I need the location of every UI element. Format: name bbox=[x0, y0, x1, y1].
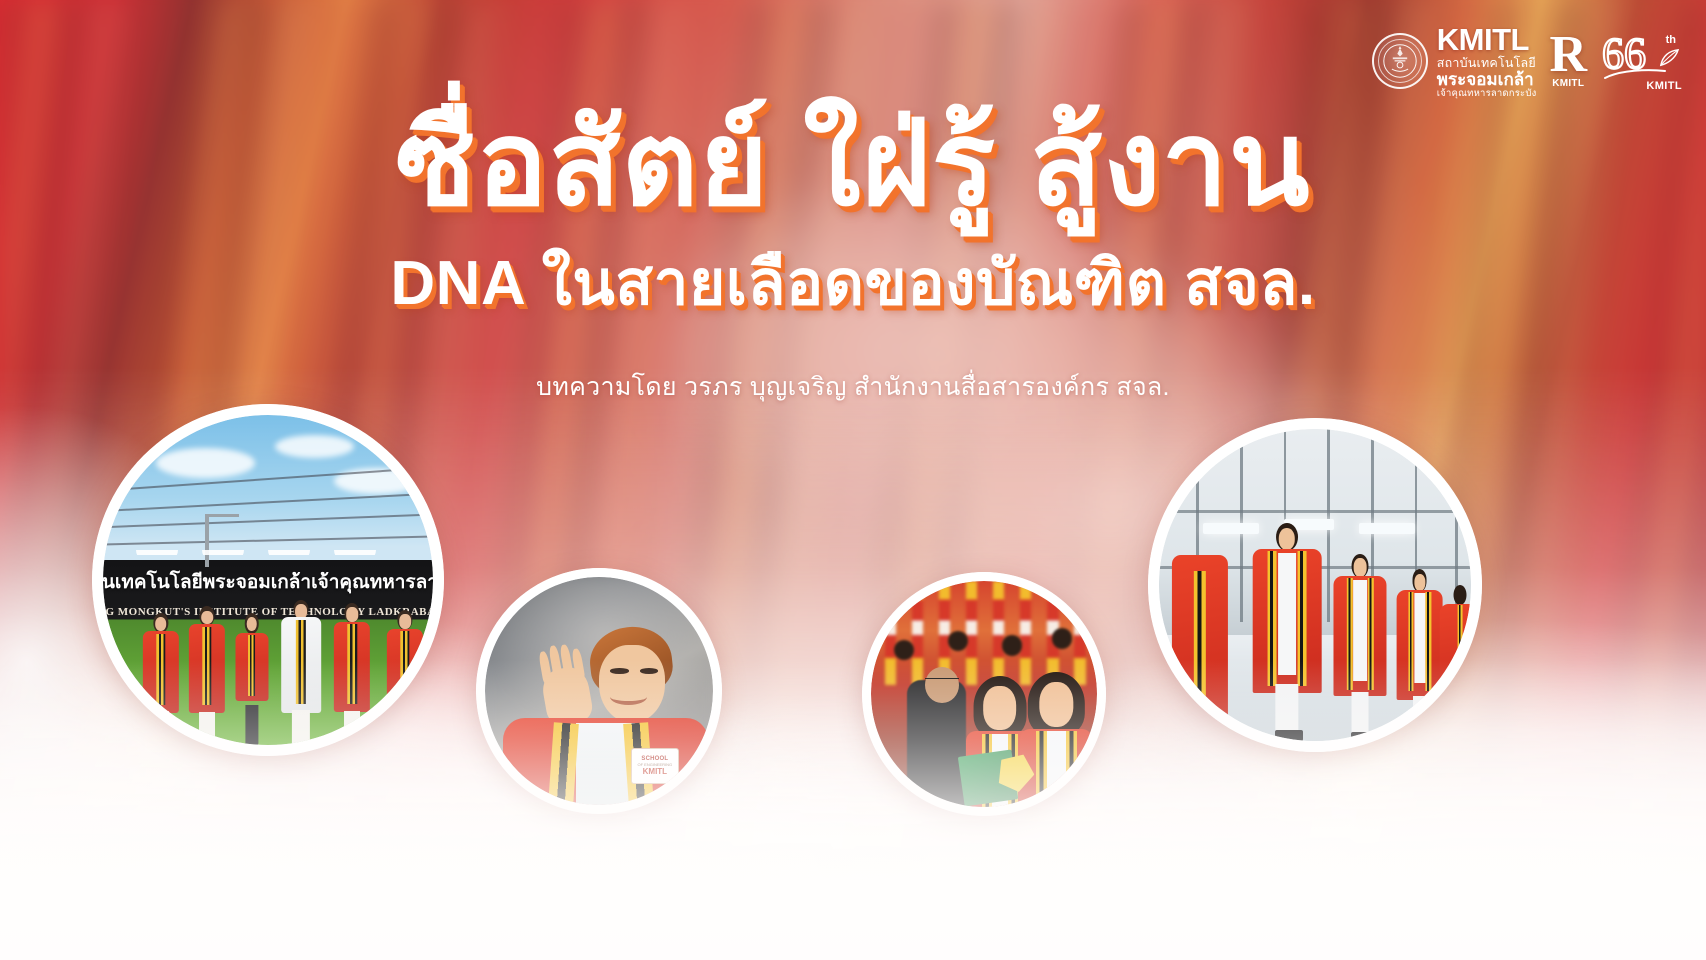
anniversary-66th-logo: 66 th KMITL bbox=[1600, 30, 1684, 92]
kmitl-graduation-banner: KMITL สถาบันเทคโนโลยี พระจอมเกล้า เจ้าคุ… bbox=[0, 0, 1706, 960]
article-byline: บทความโดย วรภร บุญเจริญ สำนักงานสื่อสารอ… bbox=[0, 367, 1706, 407]
photo-graduates-banner-image: บันเทคโนโลยีพระจอมเกล้าเจ้าคุณทหารลาดก K… bbox=[103, 415, 433, 745]
page-title: ซื่อสัตย์ ใฝ่รู้ สู้งาน bbox=[0, 96, 1706, 233]
kmitl-wordmark: KMITL สถาบันเทคโนโลยี พระจอมเกล้า เจ้าคุ… bbox=[1437, 24, 1537, 99]
campus-banner-thai: บันเทคโนโลยีพระจอมเกล้าเจ้าคุณทหารลาดก bbox=[103, 567, 433, 597]
school-badge: SCHOOL OF ENGINEERING KMITL bbox=[631, 748, 679, 784]
kmitl-wordmark-thai-3: เจ้าคุณทหารลาดกระบัง bbox=[1437, 89, 1537, 99]
r-mark-sublabel: KMITL bbox=[1552, 78, 1584, 89]
anniversary-ordinal: th bbox=[1666, 34, 1676, 46]
kmitl-wordmark-latin: KMITL bbox=[1437, 24, 1537, 55]
photo-graduates-banner: บันเทคโนโลยีพระจอมเกล้าเจ้าคุณทหารลาดก K… bbox=[92, 404, 444, 756]
scene-campus-banner: บันเทคโนโลยีพระจอมเกล้าเจ้าคุณทหารลาดก K… bbox=[103, 415, 433, 745]
scene-procession-hall bbox=[1159, 429, 1471, 741]
photo-procession-hall bbox=[1148, 418, 1482, 752]
logo-cluster: KMITL สถาบันเทคโนโลยี พระจอมเกล้า เจ้าคุ… bbox=[1372, 24, 1684, 99]
hero-text-block: ซื่อสัตย์ ใฝ่รู้ สู้งาน DNA ในสายเลือดขอ… bbox=[0, 96, 1706, 407]
kmitl-wordmark-thai-1: สถาบันเทคโนโลยี bbox=[1437, 57, 1537, 70]
scene-graduate-crowd bbox=[871, 581, 1097, 807]
photo-graduates-crowd-image bbox=[871, 581, 1097, 807]
page-subtitle: DNA ในสายเลือดของบัณฑิต สจล. bbox=[0, 247, 1706, 321]
anniversary-label: KMITL bbox=[1646, 80, 1682, 92]
photo-procession-hall-image bbox=[1159, 429, 1471, 741]
r-mark-glyph: R bbox=[1549, 34, 1587, 77]
photo-waving-graduate: SCHOOL OF ENGINEERING KMITL bbox=[476, 568, 722, 814]
photo-waving-graduate-image: SCHOOL OF ENGINEERING KMITL bbox=[485, 577, 713, 805]
kmitl-royal-seal-icon bbox=[1372, 33, 1428, 89]
photo-graduates-crowd bbox=[862, 572, 1106, 816]
school-badge-bottom: KMITL bbox=[643, 767, 667, 776]
swoosh-icon bbox=[1604, 67, 1666, 79]
kmitl-wordmark-thai-2: พระจอมเกล้า bbox=[1437, 71, 1537, 88]
r-mark-logo: R KMITL bbox=[1549, 34, 1587, 89]
scene-waving-graduate: SCHOOL OF ENGINEERING KMITL bbox=[485, 577, 713, 805]
